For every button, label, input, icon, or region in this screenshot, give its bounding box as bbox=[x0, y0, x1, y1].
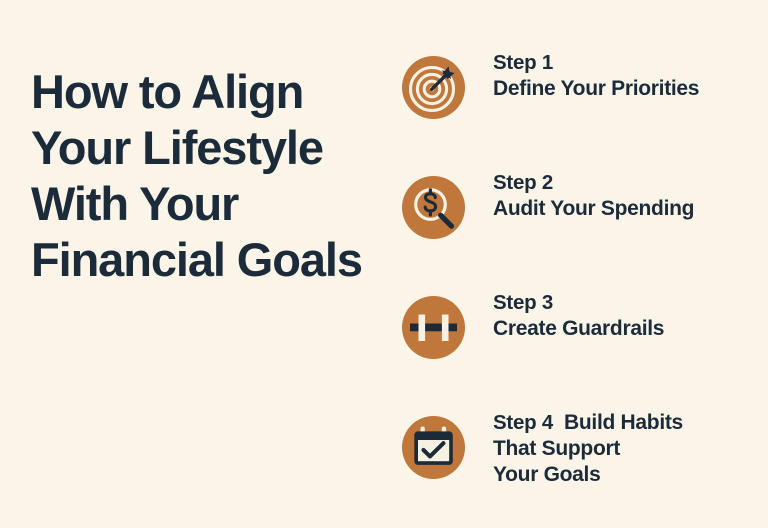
target-arrow-icon bbox=[402, 56, 465, 119]
step-label: Step 3 bbox=[493, 290, 664, 316]
step-label: Step 2 bbox=[493, 170, 694, 196]
step-title: Define Your Priorities bbox=[493, 76, 699, 102]
infographic-canvas: How to Align Your Lifestyle With Your Fi… bbox=[0, 0, 768, 512]
step-3-icon-badge bbox=[402, 296, 465, 359]
step-4-head: Step 4 Build Habits bbox=[493, 410, 683, 436]
list-item: Step 2 Audit Your Spending bbox=[402, 168, 752, 288]
list-item: Step 1 Define Your Priorities bbox=[402, 48, 752, 168]
step-3-text: Step 3 Create Guardrails bbox=[493, 288, 664, 342]
step-2-text: Step 2 Audit Your Spending bbox=[493, 168, 694, 222]
calendar-check-icon bbox=[402, 416, 465, 479]
list-item: Step 4 Build Habits That Support Your Go… bbox=[402, 408, 752, 528]
step-label: Step 4 bbox=[493, 410, 553, 436]
step-1-text: Step 1 Define Your Priorities bbox=[493, 48, 699, 102]
step-title: Audit Your Spending bbox=[493, 196, 694, 222]
list-item: Step 3 Create Guardrails bbox=[402, 288, 752, 408]
page-title: How to Align Your Lifestyle With Your Fi… bbox=[31, 64, 391, 288]
step-1-icon-badge bbox=[402, 56, 465, 119]
step-title-rest: That Support Your Goals bbox=[493, 436, 683, 488]
step-2-icon-badge bbox=[402, 176, 465, 239]
step-label: Step 1 bbox=[493, 50, 699, 76]
step-4-text: Step 4 Build Habits That Support Your Go… bbox=[493, 408, 683, 488]
magnifier-dollar-icon bbox=[402, 176, 465, 239]
guardrail-icon bbox=[402, 296, 465, 359]
step-title-line1: Build Habits bbox=[564, 410, 683, 436]
step-4-icon-badge bbox=[402, 416, 465, 479]
steps-list: Step 1 Define Your Priorities Step 2 bbox=[402, 48, 752, 528]
step-title: Create Guardrails bbox=[493, 316, 664, 342]
